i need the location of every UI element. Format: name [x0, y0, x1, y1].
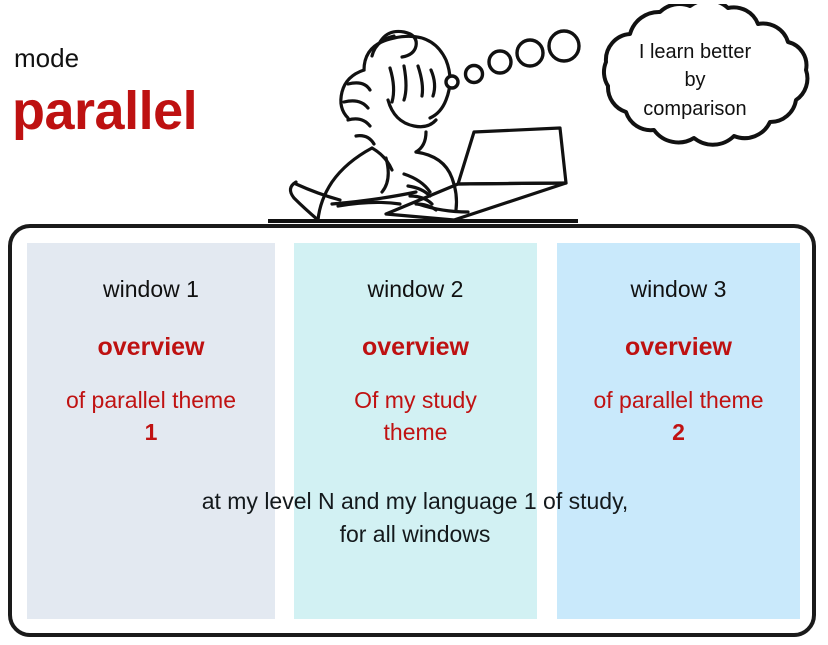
window-panel-2-emphasis: theme	[300, 416, 531, 448]
window-panel-2[interactable]: window 2 overview Of my study theme	[294, 243, 537, 619]
window-panel-1-subtitle: of parallel theme 1	[27, 384, 275, 448]
thought-bubble-line-3: comparison	[600, 95, 790, 123]
mode-value: parallel	[12, 84, 197, 138]
slide-canvas: mode parallel	[0, 0, 828, 645]
window-panel-1-title: window 1	[27, 278, 275, 301]
window-panel-1-overview: overview	[27, 335, 275, 360]
window-panel-1-emphasis: 1	[33, 416, 269, 448]
window-panel-2-title: window 2	[294, 278, 537, 301]
windows-caption-line-2: for all windows	[100, 518, 730, 551]
mode-label: mode	[14, 45, 79, 71]
window-panel-2-overview: overview	[294, 335, 537, 360]
window-panel-1[interactable]: window 1 overview of parallel theme 1	[27, 243, 275, 619]
window-panel-3-overview: overview	[557, 335, 800, 360]
window-panel-3-emphasis: 2	[563, 416, 794, 448]
windows-caption-line-1: at my level N and my language 1 of study…	[100, 485, 730, 518]
thought-bubble-line-1: I learn better	[600, 38, 790, 66]
window-panel-1-subtitle-text: of parallel theme	[66, 387, 236, 413]
windows-caption: at my level N and my language 1 of study…	[100, 485, 730, 550]
window-panel-3-title: window 3	[557, 278, 800, 301]
window-panel-2-subtitle: Of my study theme	[294, 384, 537, 448]
window-panel-3-subtitle: of parallel theme 2	[557, 384, 800, 448]
window-panel-3[interactable]: window 3 overview of parallel theme 2	[557, 243, 800, 619]
window-panel-2-subtitle-text: Of my study	[354, 387, 477, 413]
window-panel-3-subtitle-text: of parallel theme	[593, 387, 763, 413]
thought-bubble-text: I learn better by comparison	[600, 38, 790, 123]
thought-bubble-line-2: by	[600, 66, 790, 94]
